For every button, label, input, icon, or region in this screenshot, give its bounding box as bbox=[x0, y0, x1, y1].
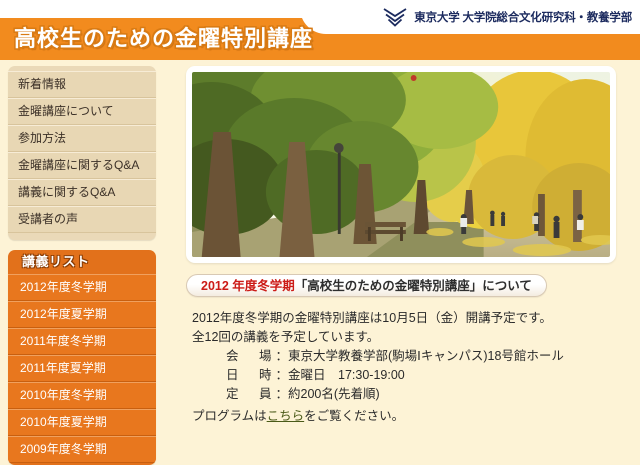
sidebar-item-news[interactable]: 新着情報 bbox=[8, 71, 156, 98]
term-item-2009-winter[interactable]: 2009年度冬学期 bbox=[8, 436, 156, 463]
detail-venue: 会 場：東京大学教養学部(駒場Ⅰキャンパス)18号館ホール bbox=[192, 347, 632, 366]
sidebar-item-participation[interactable]: 参加方法 bbox=[8, 125, 156, 152]
term-item-2012-winter[interactable]: 2012年度冬学期 bbox=[8, 274, 156, 301]
intro-line-2: 全12回の講義を予定しています。 bbox=[192, 328, 632, 347]
detail-datetime-value: ：金曜日 17:30-19:00 bbox=[276, 368, 405, 382]
photo-panel bbox=[186, 66, 616, 263]
intro-line-1: 2012年度冬学期の金曜特別講座は10月5日（金）開講予定です。 bbox=[192, 309, 632, 328]
university-name-label: 東京大学 大学院総合文化研究科・教養学部 bbox=[414, 9, 632, 25]
term-item-2011-summer[interactable]: 2011年度夏学期 bbox=[8, 355, 156, 382]
page-title: 高校生のための金曜特別講座 bbox=[14, 21, 313, 53]
sidebar-item-about[interactable]: 金曜講座について bbox=[8, 98, 156, 125]
program-line: プログラムはこちらをご覧ください。 bbox=[192, 407, 632, 426]
section-heading-highlight: 2012 年度冬学期 bbox=[201, 279, 295, 293]
utokyo-shield-icon bbox=[382, 6, 408, 28]
detail-capacity-label: 定 員 bbox=[226, 387, 276, 401]
sidebar-item-testimonials[interactable]: 受講者の声 bbox=[8, 206, 156, 233]
term-item-2010-summer[interactable]: 2010年度夏学期 bbox=[8, 409, 156, 436]
university-logo-block[interactable]: 東京大学 大学院総合文化研究科・教養学部 bbox=[382, 5, 632, 29]
detail-datetime-label: 日 時 bbox=[226, 368, 276, 382]
detail-venue-value: ：東京大学教養学部(駒場Ⅰキャンパス)18号館ホール bbox=[276, 349, 564, 363]
term-item-2010-winter[interactable]: 2010年度冬学期 bbox=[8, 382, 156, 409]
section-heading: 2012 年度冬学期「高校生のための金曜特別講座」について bbox=[186, 274, 547, 297]
term-item-2011-winter[interactable]: 2011年度冬学期 bbox=[8, 328, 156, 355]
term-item-2012-summer[interactable]: 2012年度夏学期 bbox=[8, 301, 156, 328]
program-prefix: プログラムは bbox=[192, 409, 267, 423]
sidebar-item-course-faq[interactable]: 金曜講座に関するQ&A bbox=[8, 152, 156, 179]
sidebar-item-lecture-faq[interactable]: 講義に関するQ&A bbox=[8, 179, 156, 206]
body-text: 2012年度冬学期の金曜特別講座は10月5日（金）開講予定です。 全12回の講義… bbox=[186, 309, 632, 426]
detail-datetime: 日 時：金曜日 17:30-19:00 bbox=[192, 366, 632, 385]
program-link[interactable]: こちら bbox=[267, 409, 305, 423]
detail-capacity: 定 員：約200名(先着順) bbox=[192, 385, 632, 404]
detail-venue-label: 会 場 bbox=[226, 349, 276, 363]
main-content: 2012 年度冬学期「高校生のための金曜特別講座」について 2012年度冬学期の… bbox=[186, 66, 632, 426]
section-heading-rest: 「高校生のための金曜特別講座」について bbox=[295, 279, 532, 293]
lecture-list-title: 講義リスト bbox=[8, 250, 156, 274]
program-suffix: をご覧ください。 bbox=[304, 409, 404, 423]
detail-capacity-value: ：約200名(先着順) bbox=[276, 387, 380, 401]
lecture-list-panel: 講義リスト 2012年度冬学期 2012年度夏学期 2011年度冬学期 2011… bbox=[8, 250, 156, 465]
sidebar-nav-card: 新着情報 金曜講座について 参加方法 金曜講座に関するQ&A 講義に関するQ&A… bbox=[8, 66, 156, 240]
sidebar: 新着情報 金曜講座について 参加方法 金曜講座に関するQ&A 講義に関するQ&A… bbox=[8, 66, 156, 465]
campus-ginkgo-photo bbox=[192, 72, 610, 257]
